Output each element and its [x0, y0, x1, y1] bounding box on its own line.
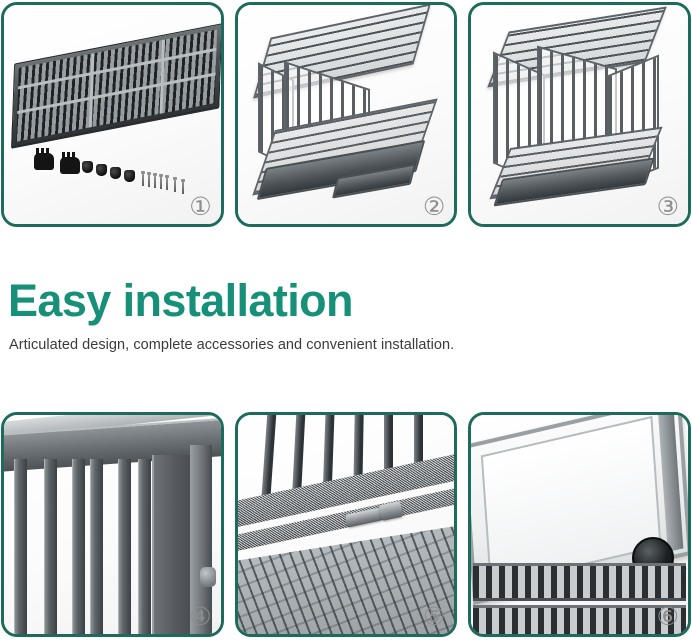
- panel-badge-5: ⑤: [423, 604, 445, 629]
- screw-accessory: [142, 173, 144, 186]
- crate-slab-top: [11, 23, 221, 148]
- base-vent-slots-upper: [473, 563, 686, 601]
- panel-badge-4: ④: [189, 604, 211, 629]
- latch-knob: [200, 567, 216, 587]
- screw-accessory: [182, 181, 184, 194]
- photo-removable-tray-caster: [471, 415, 688, 634]
- heading-block: Easy installation Articulated design, co…: [8, 278, 684, 353]
- caster-wheel-accessory: [82, 161, 93, 173]
- panel-flat-packed-parts: ①: [1, 2, 224, 227]
- cage-bar: [44, 459, 57, 634]
- assembly-illustration: [238, 5, 455, 224]
- cage-bar: [138, 459, 151, 634]
- panel-badge-1: ①: [189, 194, 211, 219]
- screw-accessory: [174, 179, 176, 192]
- photo-cage-with-roof-panel: [471, 5, 688, 224]
- screw-accessory: [148, 174, 150, 187]
- panel-badge-2: ②: [423, 194, 445, 219]
- panel-removable-tray-caster: ⑥: [468, 412, 691, 637]
- photo-hinge-latch-closeup: [238, 415, 455, 634]
- panel-cage-with-roof-panel: ③: [468, 2, 691, 227]
- base-vent-slots-lower: [473, 605, 686, 634]
- glove-accessory: [34, 153, 54, 170]
- screw-accessory: [154, 175, 156, 188]
- screw-accessory: [166, 177, 168, 190]
- caster-wheel-accessory: [96, 164, 107, 176]
- caster-wheel-accessory: [124, 170, 135, 182]
- glove-accessory: [60, 157, 80, 174]
- page-subtitle: Articulated design, complete accessories…: [9, 337, 684, 353]
- panel-row-top: ① ② ③: [0, 2, 692, 227]
- assembly-illustration: [471, 5, 688, 224]
- photo-flat-packed-parts: [4, 5, 221, 224]
- panel-door-bars-closeup: ④: [1, 412, 224, 637]
- tray-rail: [658, 415, 684, 552]
- panel-badge-3: ③: [657, 194, 679, 219]
- panel-badge-6: ⑥: [657, 604, 679, 629]
- cage-bar: [14, 459, 27, 634]
- panel-base-and-side-assembly: ②: [235, 2, 458, 227]
- caster-wheel-accessory: [110, 167, 121, 179]
- panel-hinge-latch-closeup: ⑤: [235, 412, 458, 637]
- screw-accessory: [160, 176, 162, 189]
- cage-bar: [90, 459, 103, 634]
- photo-door-bars-closeup: [4, 415, 221, 634]
- cage-bar: [72, 459, 85, 634]
- hinge-hardware: [378, 501, 403, 521]
- crate-bar-texture: [16, 29, 217, 141]
- cage-bar: [118, 459, 131, 634]
- page-title: Easy installation: [8, 278, 684, 324]
- panel-row-bottom: ④ ⑤ ⑥: [0, 412, 692, 637]
- photo-base-and-side-assembly: [238, 5, 455, 224]
